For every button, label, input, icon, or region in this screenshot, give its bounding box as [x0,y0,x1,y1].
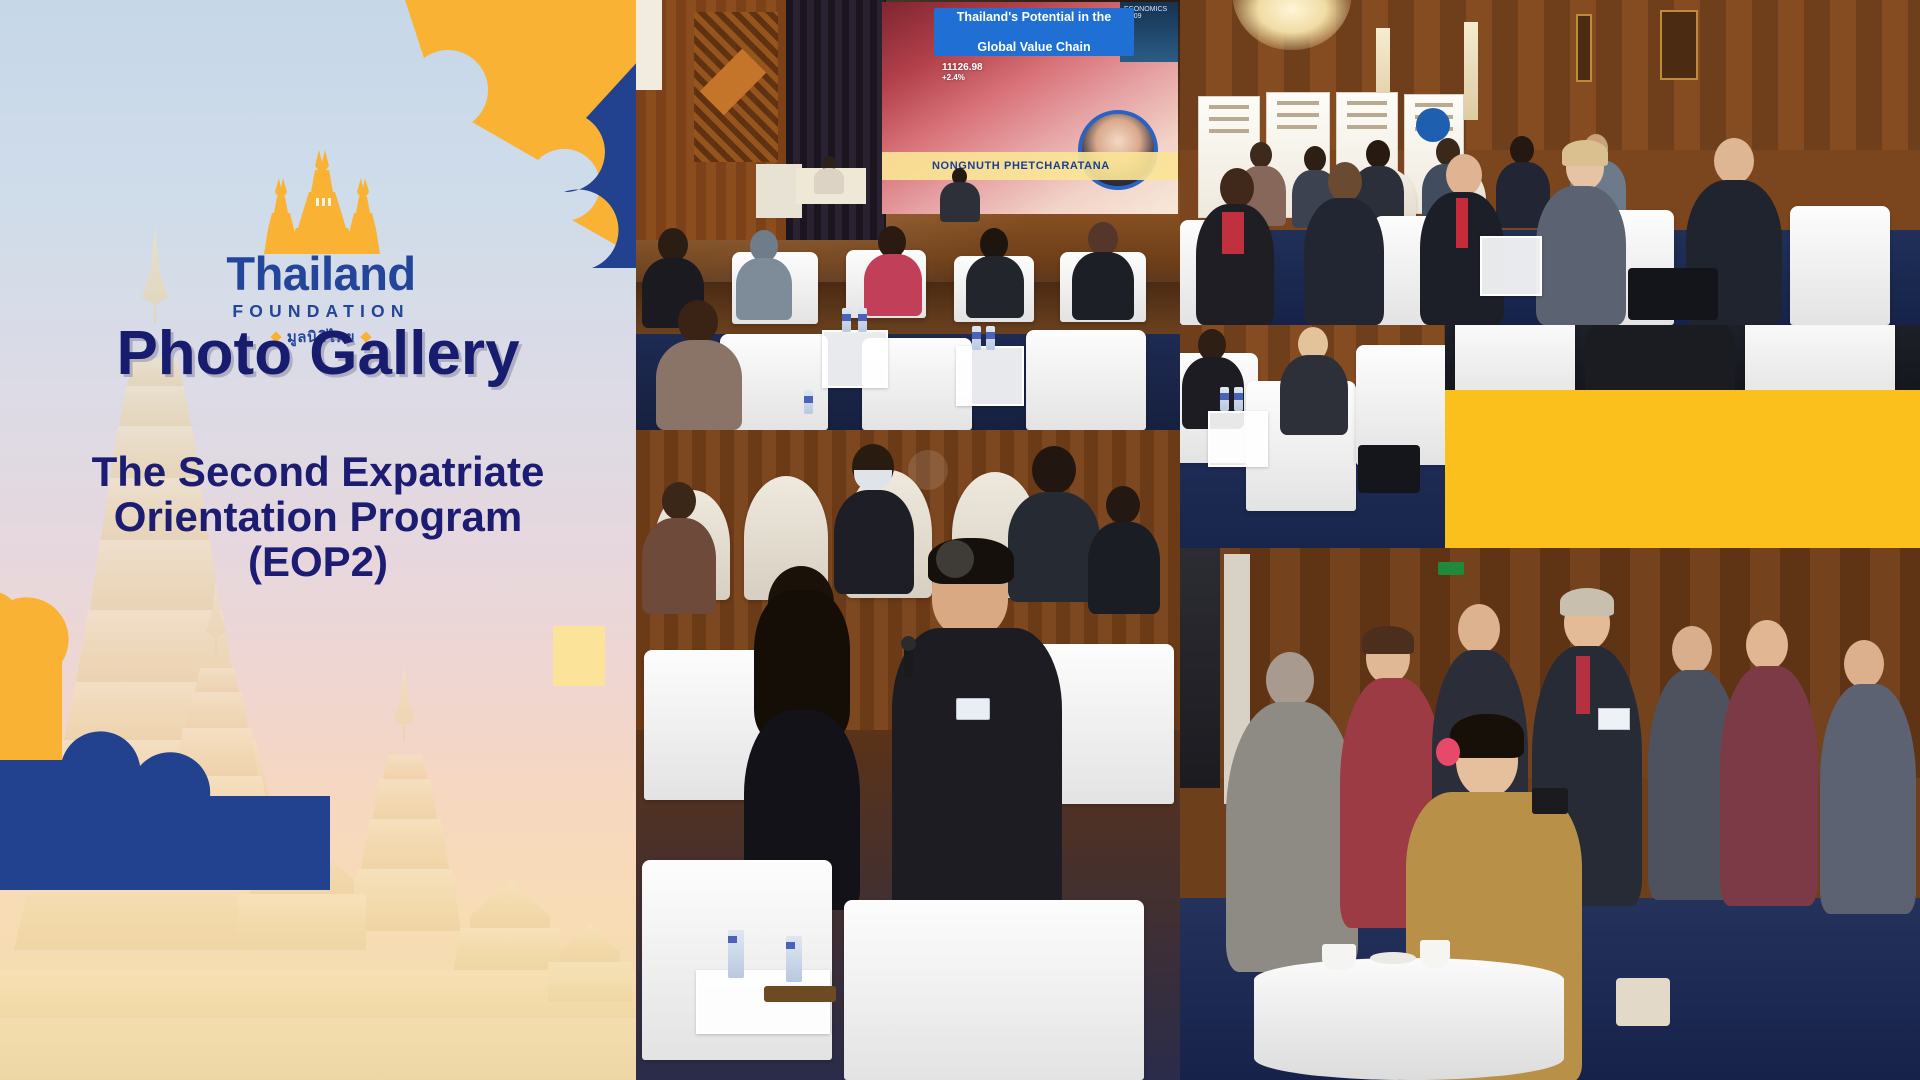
hair [1362,626,1414,654]
person-body [736,258,792,320]
person-body [1304,198,1384,325]
slide-stat-value: 11126.98 [942,62,983,73]
smartphone [1532,788,1568,814]
person-head [1366,140,1390,168]
water-bottle [972,326,981,350]
person-head [1250,142,1272,168]
framed-picture [1660,10,1698,80]
bag [1358,445,1420,493]
photo-networking-reception [1180,548,1920,1080]
microphone [904,644,913,678]
slide-headline-band: Thailand's Potential in the Global Value… [934,8,1134,56]
red-blouse [1222,212,1244,254]
person-body [1226,702,1358,972]
logo-wordmark: Thailand [196,250,446,297]
saucer [1370,952,1416,964]
person-head [1510,136,1534,164]
person-body [1820,684,1916,914]
subtitle-line-3: (EOP2) [0,540,636,585]
name-badge [956,698,990,720]
red-necktie [1576,656,1590,714]
person-head [1446,154,1482,196]
person-head [1328,162,1362,202]
water-bottle [842,308,851,332]
photo-seated-delegates-crop [1445,325,1920,390]
slide-headline-line2: Global Value Chain [957,40,1111,55]
person-head [658,228,688,262]
person-body [814,168,844,194]
person-head [662,482,696,520]
person-head [1304,146,1326,172]
banner-logo [1416,108,1450,142]
person-body [1008,492,1100,602]
person-head [1714,138,1754,184]
framed-picture [1576,14,1592,82]
side-table [1480,236,1542,296]
hair [1450,714,1524,758]
person-body [864,254,922,316]
water-bottle [804,390,813,414]
side-table [956,346,1024,406]
side-table [1208,411,1268,467]
person-body [642,518,716,614]
coffee-cup [1420,940,1450,968]
coffee-cup [1322,944,1356,970]
person-head [1746,620,1788,670]
water-bottle [786,936,802,982]
slide-stat: 11126.98 +2.4% [942,62,983,82]
person-body [1280,355,1348,435]
photo-gallery-poster: Thailand FOUNDATION มูลนิธิไทย Photo Gal… [0,0,1920,1080]
person-body [892,628,1062,918]
water-bottle [986,326,995,350]
person-head [1106,486,1140,524]
person-body [1536,186,1626,325]
person-body [834,490,914,594]
person-body [1072,252,1134,320]
hair [1562,140,1608,166]
person-head [1266,652,1314,708]
person-head [1220,168,1254,208]
person-body [966,256,1024,318]
chair [844,900,1144,1080]
speaker-standing [940,182,980,222]
exit-sign [1438,562,1464,575]
person-body [1720,666,1818,906]
wall-light [1464,22,1478,120]
subtitle-line-2: Orientation Program [0,495,636,540]
chair [1790,206,1890,325]
chair [1026,330,1146,430]
name-badge [1598,708,1630,730]
banner-stand [1180,548,1220,788]
decor-square-pale-yellow [553,626,605,686]
person-head [1672,626,1712,674]
side-table [822,330,888,388]
page-subtitle: The Second Expatriate Orientation Progra… [0,450,636,585]
photo-seated-delegates [1180,0,1920,325]
chair [1745,325,1895,390]
slide-speaker-name-band: NONGNUTH PHETCHARATANA [882,152,1178,180]
person-body [1088,522,1160,614]
page-title: Photo Gallery [0,318,636,389]
slide-stat-delta: +2.4% [942,73,983,82]
flower-hairpin [1436,738,1460,766]
light-bokeh [936,540,974,578]
red-necktie [1456,198,1468,248]
person-body [1585,325,1735,390]
tray [764,986,836,1002]
puzzle-piece-blue-rightedge [520,48,636,268]
water-bottle [1220,387,1229,411]
water-bottle [728,930,744,978]
person-head [1088,222,1118,256]
water-bottle [858,308,867,332]
hair [1560,588,1614,616]
person-head [1844,640,1884,688]
light-bokeh [908,450,948,490]
left-title-panel: Thailand FOUNDATION มูลนิธิไทย Photo Gal… [0,0,636,1080]
person-head [1458,604,1500,654]
water-bottle [1234,387,1243,411]
subtitle-line-1: The Second Expatriate [0,450,636,495]
cocktail-table [1254,958,1564,1080]
thai-temple-spire-logo-icon [216,150,426,254]
person-head [1032,446,1076,494]
puzzle-piece-blue-bottomleft [0,700,330,890]
slide-speaker-name: NONGNUTH PHETCHARATANA [882,160,1110,172]
photo-conference-plenary: ECONOMICS 16.09 Thailand's Potential in … [636,0,1180,430]
presentation-screen: ECONOMICS 16.09 Thailand's Potential in … [882,2,1178,214]
photo-audience-question [636,430,1180,1080]
chair [1455,325,1575,390]
briefcase [1628,268,1718,320]
slide-headline-line1: Thailand's Potential in the [957,10,1111,25]
chair-back [1616,978,1670,1026]
side-table [696,970,830,1034]
person-head [678,300,718,344]
photo-seated-delegates-lower [1180,325,1445,548]
person-body [656,340,742,430]
